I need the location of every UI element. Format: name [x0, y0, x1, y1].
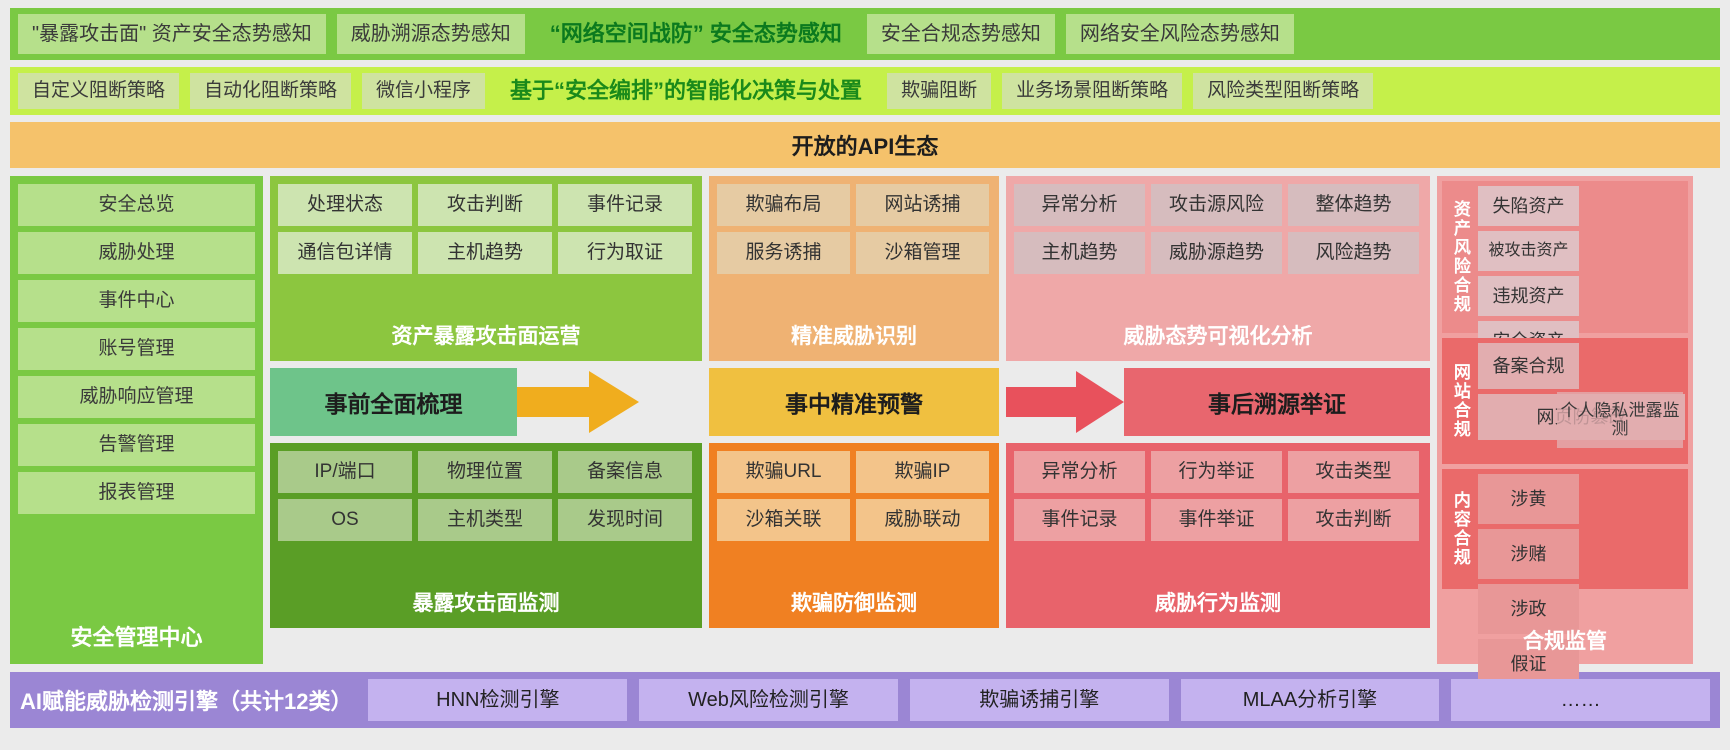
deception-mon-item-2[interactable]: 沙箱关联	[717, 499, 850, 541]
perception-item-4[interactable]: 网络安全风险态势感知	[1066, 14, 1294, 54]
engines-band: AI赋能威胁检测引擎（共计12类） HNN检测引擎 Web风险检测引擎 欺骗诱捕…	[10, 672, 1720, 728]
panel-threat-visualization-grid: 异常分析 攻击源风险 整体趋势 主机趋势 威胁源趋势 风险趋势	[1014, 184, 1422, 274]
threat-vis-item-0[interactable]: 异常分析	[1014, 184, 1145, 226]
behavior-mon-item-0[interactable]: 异常分析	[1014, 451, 1145, 493]
stage-mid: 事中精准预警	[709, 368, 999, 436]
exposure-mon-item-2[interactable]: 备案信息	[558, 451, 692, 493]
security-management-center-column: 安全总览 威胁处理 事件中心 账号管理 威胁响应管理 告警管理 报表管理 安全管…	[10, 176, 263, 664]
content-item-0[interactable]: 涉黄	[1478, 474, 1579, 524]
asset-risk-item-1[interactable]: 被攻击资产	[1478, 231, 1579, 271]
behavior-mon-item-3[interactable]: 事件记录	[1014, 499, 1145, 541]
architecture-diagram: "暴露攻击面" 资产安全态势感知 威胁溯源态势感知 “网络空间战防” 安全态势感…	[0, 0, 1730, 750]
exposure-mon-item-5[interactable]: 发现时间	[558, 499, 692, 541]
compliance-block-asset-risk-label: 资产风险合规	[1447, 186, 1473, 328]
stage-post: 事后溯源举证	[1124, 368, 1430, 436]
compliance-block-content: 内容合规 涉黄 涉赌 涉政 假证	[1442, 469, 1688, 589]
stage-strip-post: 事后溯源举证	[1006, 368, 1430, 436]
perception-item-0[interactable]: "暴露攻击面" 资产安全态势感知	[18, 14, 326, 54]
orchestration-item-1[interactable]: 自动化阻断策略	[190, 73, 351, 109]
compliance-block-content-grid: 涉黄 涉赌 涉政 假证	[1478, 474, 1683, 584]
exposure-mon-item-1[interactable]: 物理位置	[418, 451, 552, 493]
api-ecosystem-title: 开放的API生态	[792, 129, 939, 161]
panel-threat-visualization: 异常分析 攻击源风险 整体趋势 主机趋势 威胁源趋势 风险趋势 威胁态势可视化分…	[1006, 176, 1430, 361]
asset-risk-item-0[interactable]: 失陷资产	[1478, 186, 1579, 226]
perception-item-1[interactable]: 威胁溯源态势感知	[337, 14, 525, 54]
compliance-block-website: 网站合规 备案合规 网页防篡改 个人隐私泄露监测	[1442, 338, 1688, 464]
asset-ops-item-0[interactable]: 处理状态	[278, 184, 412, 226]
asset-ops-item-1[interactable]: 攻击判断	[418, 184, 552, 226]
engine-item-4[interactable]: ……	[1451, 679, 1710, 721]
orchestration-item-6[interactable]: 风险类型阻断策略	[1193, 73, 1373, 109]
behavior-mon-item-5[interactable]: 攻击判断	[1288, 499, 1419, 541]
engine-item-1[interactable]: Web风险检测引擎	[639, 679, 898, 721]
compliance-column-title: 合规监管	[1442, 621, 1688, 661]
column-asset: 处理状态 攻击判断 事件记录 通信包详情 主机趋势 行为取证 资产暴露攻击面运营…	[270, 176, 702, 664]
panel-threat-visualization-title: 威胁态势可视化分析	[1014, 315, 1422, 357]
sidebar-item-2[interactable]: 事件中心	[18, 280, 255, 322]
deception-mon-item-1[interactable]: 欺骗IP	[856, 451, 989, 493]
orchestration-item-2[interactable]: 微信小程序	[362, 73, 485, 109]
threat-id-item-1[interactable]: 网站诱捕	[856, 184, 989, 226]
asset-risk-item-2[interactable]: 违规资产	[1478, 276, 1579, 316]
behavior-mon-item-1[interactable]: 行为举证	[1151, 451, 1282, 493]
threat-vis-item-1[interactable]: 攻击源风险	[1151, 184, 1282, 226]
engines-band-lead: AI赋能威胁检测引擎（共计12类）	[20, 684, 356, 716]
sidebar-item-1[interactable]: 威胁处理	[18, 232, 255, 274]
api-ecosystem-band: 开放的API生态	[10, 122, 1720, 168]
threat-id-item-0[interactable]: 欺骗布局	[717, 184, 850, 226]
threat-id-item-3[interactable]: 沙箱管理	[856, 232, 989, 274]
exposure-mon-item-0[interactable]: IP/端口	[278, 451, 412, 493]
panel-threat-identification: 欺骗布局 网站诱捕 服务诱捕 沙箱管理 精准威胁识别	[709, 176, 999, 361]
compliance-block-content-label: 内容合规	[1447, 474, 1473, 584]
panel-deception-monitoring: 欺骗URL 欺骗IP 沙箱关联 威胁联动 欺骗防御监测	[709, 443, 999, 628]
orchestration-item-0[interactable]: 自定义阻断策略	[18, 73, 179, 109]
orchestration-item-3[interactable]: 基于“安全编排”的智能化决策与处置	[496, 73, 876, 109]
panel-behavior-monitoring-title: 威胁行为监测	[1014, 582, 1422, 624]
asset-ops-item-3[interactable]: 通信包详情	[278, 232, 412, 274]
sidebar-item-6[interactable]: 报表管理	[18, 472, 255, 514]
panel-deception-monitoring-title: 欺骗防御监测	[717, 582, 991, 624]
asset-ops-item-2[interactable]: 事件记录	[558, 184, 692, 226]
orchestration-item-5[interactable]: 业务场景阻断策略	[1002, 73, 1182, 109]
compliance-block-asset-risk-grid: 失陷资产 被攻击资产 违规资产 安全资产	[1478, 186, 1683, 328]
main-region: 安全总览 威胁处理 事件中心 账号管理 威胁响应管理 告警管理 报表管理 安全管…	[10, 176, 1720, 664]
stage-strip-mid: 事中精准预警	[709, 368, 999, 436]
perception-band: "暴露攻击面" 资产安全态势感知 威胁溯源态势感知 “网络空间战防” 安全态势感…	[10, 8, 1720, 60]
panel-asset-ops: 处理状态 攻击判断 事件记录 通信包详情 主机趋势 行为取证 资产暴露攻击面运营	[270, 176, 702, 361]
website-item-0[interactable]: 备案合规	[1478, 343, 1579, 389]
column-threat-identification: 欺骗布局 网站诱捕 服务诱捕 沙箱管理 精准威胁识别 事中精准预警 欺骗URL …	[709, 176, 999, 664]
panel-exposure-monitoring-title: 暴露攻击面监测	[278, 582, 694, 624]
arrow-right-icon-1	[517, 377, 639, 427]
engine-item-2[interactable]: 欺骗诱捕引擎	[910, 679, 1169, 721]
deception-mon-item-3[interactable]: 威胁联动	[856, 499, 989, 541]
column-threat-behavior: 异常分析 攻击源风险 整体趋势 主机趋势 威胁源趋势 风险趋势 威胁态势可视化分…	[1006, 176, 1430, 664]
stage-pre: 事前全面梳理	[270, 368, 517, 436]
engine-item-0[interactable]: HNN检测引擎	[368, 679, 627, 721]
engine-item-3[interactable]: MLAA分析引擎	[1181, 679, 1440, 721]
stage-strip-pre: 事前全面梳理	[270, 368, 702, 436]
orchestration-band: 自定义阻断策略 自动化阻断策略 微信小程序 基于“安全编排”的智能化决策与处置 …	[10, 67, 1720, 115]
content-item-1[interactable]: 涉赌	[1478, 529, 1579, 579]
threat-vis-item-5[interactable]: 风险趋势	[1288, 232, 1419, 274]
panel-threat-identification-grid: 欺骗布局 网站诱捕 服务诱捕 沙箱管理	[717, 184, 991, 274]
threat-vis-item-4[interactable]: 威胁源趋势	[1151, 232, 1282, 274]
threat-vis-item-3[interactable]: 主机趋势	[1014, 232, 1145, 274]
compliance-block-asset-risk: 资产风险合规 失陷资产 被攻击资产 违规资产 安全资产	[1442, 181, 1688, 333]
sidebar-title: 安全管理中心	[18, 614, 255, 660]
compliance-block-website-label: 网站合规	[1447, 343, 1473, 459]
orchestration-item-4[interactable]: 欺骗阻断	[887, 73, 991, 109]
behavior-mon-item-4[interactable]: 事件举证	[1151, 499, 1282, 541]
exposure-mon-item-3[interactable]: OS	[278, 499, 412, 541]
sidebar-item-0[interactable]: 安全总览	[18, 184, 255, 226]
privacy-leak-monitoring-overlay[interactable]: 个人隐私泄露监测	[1557, 392, 1683, 448]
arrow-right-icon-2	[1006, 377, 1124, 427]
panel-deception-monitoring-grid: 欺骗URL 欺骗IP 沙箱关联 威胁联动	[717, 451, 991, 541]
asset-ops-item-4[interactable]: 主机趋势	[418, 232, 552, 274]
panel-behavior-monitoring-grid: 异常分析 行为举证 攻击类型 事件记录 事件举证 攻击判断	[1014, 451, 1422, 541]
behavior-mon-item-2[interactable]: 攻击类型	[1288, 451, 1419, 493]
panel-threat-identification-title: 精准威胁识别	[717, 315, 991, 357]
panel-behavior-monitoring: 异常分析 行为举证 攻击类型 事件记录 事件举证 攻击判断 威胁行为监测	[1006, 443, 1430, 628]
panel-asset-ops-grid: 处理状态 攻击判断 事件记录 通信包详情 主机趋势 行为取证	[278, 184, 694, 274]
deception-mon-item-0[interactable]: 欺骗URL	[717, 451, 850, 493]
panel-exposure-monitoring-grid: IP/端口 物理位置 备案信息 OS 主机类型 发现时间	[278, 451, 694, 541]
asset-ops-item-5[interactable]: 行为取证	[558, 232, 692, 274]
perception-item-2[interactable]: “网络空间战防” 安全态势感知	[536, 14, 856, 54]
panel-asset-ops-title: 资产暴露攻击面运营	[278, 315, 694, 357]
sidebar-item-5[interactable]: 告警管理	[18, 424, 255, 466]
threat-vis-item-2[interactable]: 整体趋势	[1288, 184, 1419, 226]
sidebar-item-4[interactable]: 威胁响应管理	[18, 376, 255, 418]
compliance-column: 资产风险合规 失陷资产 被攻击资产 违规资产 安全资产 网站合规 备案合规 网页…	[1437, 176, 1693, 664]
exposure-mon-item-4[interactable]: 主机类型	[418, 499, 552, 541]
threat-id-item-2[interactable]: 服务诱捕	[717, 232, 850, 274]
panel-exposure-monitoring: IP/端口 物理位置 备案信息 OS 主机类型 发现时间 暴露攻击面监测	[270, 443, 702, 628]
sidebar-item-3[interactable]: 账号管理	[18, 328, 255, 370]
perception-item-3[interactable]: 安全合规态势感知	[867, 14, 1055, 54]
